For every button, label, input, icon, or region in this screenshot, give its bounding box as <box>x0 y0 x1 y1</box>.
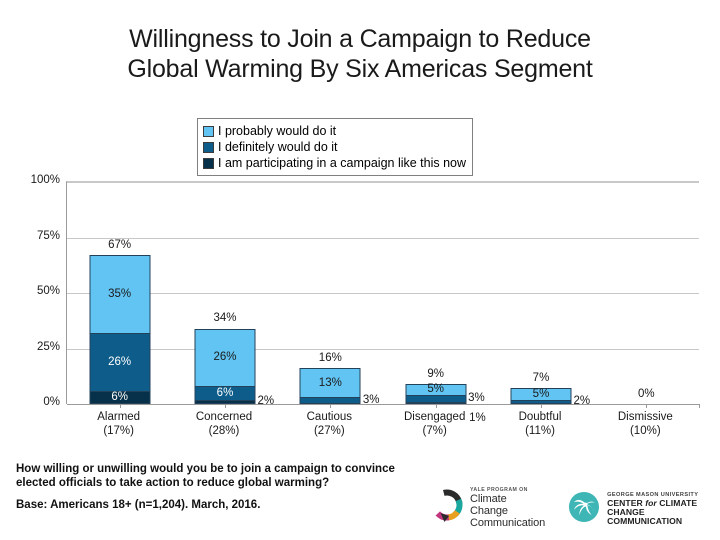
category-share: (27%) <box>277 424 382 438</box>
y-axis-tick-label: 100% <box>14 174 60 186</box>
footer-question-line-2: elected officials to take action to redu… <box>16 476 416 490</box>
category-name: Disengaged <box>404 411 465 423</box>
bar-group[interactable]: 3%13%16% <box>278 182 383 404</box>
legend-swatch-definitely <box>203 142 214 153</box>
legend-label-probably: I probably would do it <box>218 124 336 139</box>
category-share: (7%) <box>382 424 487 438</box>
bar-segment-label: 26% <box>108 357 131 369</box>
x-axis-tick <box>120 404 121 408</box>
bar-segment-label: 2% <box>573 396 590 408</box>
gmu-swirl-icon <box>567 490 601 529</box>
chart-legend: I probably would do it I definitely woul… <box>197 118 473 176</box>
category-share: (17%) <box>66 424 171 438</box>
legend-swatch-participating <box>203 158 214 169</box>
gmu-logo-line-1: CENTER for CLIMATE CHANGE <box>607 499 715 518</box>
x-axis-tick <box>436 404 437 408</box>
y-axis-tick-label: 0% <box>14 396 60 408</box>
bar-segment-probably[interactable]: 26% <box>194 329 255 387</box>
x-axis-category-label: Cautious(27%) <box>277 410 382 438</box>
bar-segment-participating[interactable]: 6% <box>89 391 150 404</box>
category-name: Dismissive <box>618 411 673 423</box>
bar-total-label: 34% <box>213 313 236 325</box>
x-axis-category-label: Alarmed(17%) <box>66 410 171 438</box>
bar-segment-label: 5% <box>533 389 550 401</box>
x-axis-category-label: Concerned(28%) <box>171 410 276 438</box>
category-share: (28%) <box>171 424 276 438</box>
category-share: (10%) <box>593 424 698 438</box>
bar-segment-probably[interactable]: 35% <box>89 255 150 333</box>
legend-item-definitely[interactable]: I definitely would do it <box>203 139 466 155</box>
plot-area: 6%26%35%67%2%6%26%34%3%13%16%1%3%5%9%2%5… <box>66 181 699 404</box>
bar-segment-label: 26% <box>213 352 236 364</box>
bar-group[interactable]: 0% <box>594 182 699 404</box>
category-name: Concerned <box>196 411 252 423</box>
gmu-logo-line-2: COMMUNICATION <box>607 517 715 526</box>
gmu-logo-text: GEORGE MASON UNIVERSITY CENTER for CLIMA… <box>607 492 715 527</box>
bar-segment-definitely[interactable]: 3% <box>300 397 361 404</box>
bar-group[interactable]: 2%6%26%34% <box>172 182 277 404</box>
y-axis-tick-label: 75% <box>14 230 60 242</box>
bar-total-label: 67% <box>108 240 131 252</box>
bar-segment-definitely[interactable]: 3% <box>405 395 466 402</box>
stacked-bar[interactable]: 3%13% <box>300 368 361 404</box>
title-line-2: Global Warming By Six Americas Segment <box>0 54 720 84</box>
x-axis-category-label: Doubtful(11%) <box>487 410 592 438</box>
category-name: Doubtful <box>519 411 562 423</box>
yale-logo-text: YALE PROGRAM ON Climate Change Communica… <box>470 488 545 530</box>
gmu-logo: GEORGE MASON UNIVERSITY CENTER for CLIMA… <box>567 490 715 529</box>
stacked-bar[interactable]: 6%26%35% <box>89 255 150 404</box>
bar-segment-label: 3% <box>363 395 380 407</box>
bar-segment-probably[interactable]: 13% <box>300 368 361 397</box>
bar-segment-label: 35% <box>108 289 131 301</box>
x-axis-tick <box>699 404 700 408</box>
yale-logo: YALE PROGRAM ON Climate Change Communica… <box>430 488 545 530</box>
legend-item-probably[interactable]: I probably would do it <box>203 123 466 139</box>
bar-total-label: 9% <box>427 369 444 381</box>
x-axis-tick <box>646 404 647 408</box>
stacked-bar[interactable]: 1%3%5% <box>405 384 466 404</box>
bar-segment-definitely[interactable]: 26% <box>89 333 150 391</box>
bar-segment-definitely[interactable]: 6% <box>194 386 255 399</box>
bar-segment-probably[interactable]: 5% <box>510 388 571 399</box>
x-axis-tick <box>225 404 226 408</box>
yale-logo-line-1: Climate Change <box>470 494 545 518</box>
bar-group[interactable]: 6%26%35%67% <box>67 182 172 404</box>
legend-label-definitely: I definitely would do it <box>218 140 338 155</box>
bar-segment-label: 6% <box>111 392 128 404</box>
bar-segment-label: 3% <box>468 393 485 405</box>
page-title: Willingness to Join a Campaign to Reduce… <box>0 24 720 84</box>
yale-logo-line-2: Communication <box>470 518 545 530</box>
x-axis-category-label: Disengaged(7%) <box>382 410 487 438</box>
footer-question: How willing or unwilling would you be to… <box>16 462 416 490</box>
legend-item-participating[interactable]: I am participating in a campaign like th… <box>203 155 466 171</box>
footer-base-text: Base: Americans 18+ (n=1,204). March, 20… <box>16 498 416 512</box>
footer-question-line-1: How willing or unwilling would you be to… <box>16 462 416 476</box>
x-axis-category-label: Dismissive(10%) <box>593 410 698 438</box>
bar-segment-label: 2% <box>257 396 274 408</box>
stacked-bar[interactable]: 2%6%26% <box>194 329 255 404</box>
bar-group[interactable]: 1%3%5%9% <box>383 182 488 404</box>
legend-swatch-probably <box>203 126 214 137</box>
x-axis-line <box>67 404 699 405</box>
bar-total-label: 16% <box>319 353 342 365</box>
bar-segment-label: 5% <box>427 384 444 396</box>
gmu-logo-for: for <box>645 498 657 508</box>
y-axis-tick-label: 50% <box>14 285 60 297</box>
bar-total-label: 7% <box>533 373 550 385</box>
category-share: (11%) <box>487 424 592 438</box>
x-axis-tick <box>330 404 331 408</box>
title-line-1: Willingness to Join a Campaign to Reduce <box>0 24 720 54</box>
x-axis-tick <box>541 404 542 408</box>
category-name: Alarmed <box>97 411 140 423</box>
bar-group[interactable]: 2%5%7% <box>488 182 593 404</box>
bar-segment-label: 6% <box>217 388 234 400</box>
y-axis-tick-label: 25% <box>14 341 60 353</box>
bar-segment-probably[interactable]: 5% <box>405 384 466 395</box>
legend-label-participating: I am participating in a campaign like th… <box>218 156 466 171</box>
yale-ring-icon <box>430 489 464 528</box>
category-name: Cautious <box>307 411 352 423</box>
bar-segment-label: 13% <box>319 378 342 390</box>
logo-bar: YALE PROGRAM ON Climate Change Communica… <box>430 484 715 534</box>
bar-total-label: 0% <box>638 389 655 401</box>
stacked-bar[interactable]: 2%5% <box>510 388 571 404</box>
